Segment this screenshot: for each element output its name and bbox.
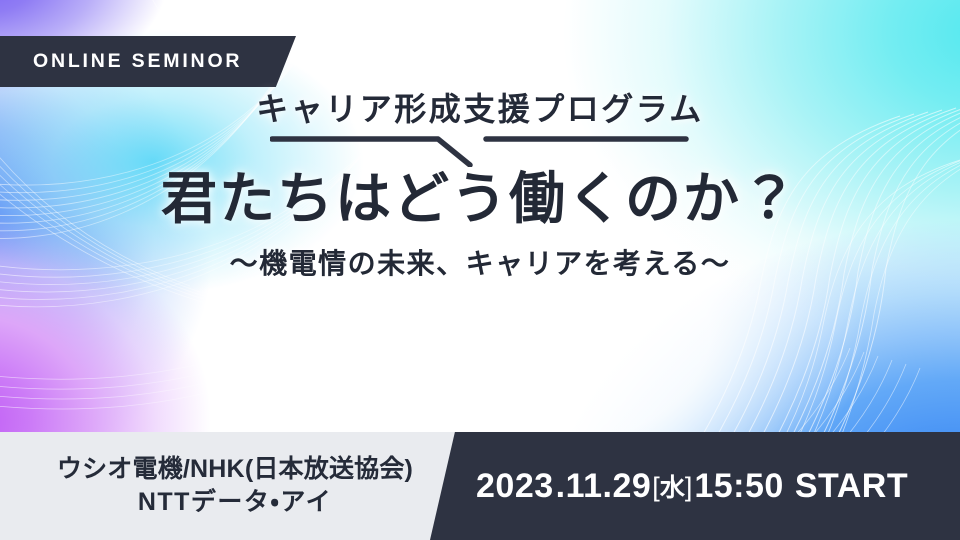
start-label: START [795,467,908,506]
organizers-line-2: NTTデータ・アイ [138,486,332,519]
date-year: 2023 [476,467,554,506]
date-panel: 2023 .11.29 [水] 15:50 START [430,432,960,540]
sub-title: ～機電情の未来、キャリアを考える～ [0,248,960,282]
title-divider [270,133,690,167]
seminar-poster: ONLINE SEMINOR キャリア形成支援プログラム 君たちはどう働くのか？… [0,0,960,540]
online-seminar-ribbon: ONLINE SEMINOR [0,36,296,87]
date-day-of-week: 水 [660,474,685,502]
date-start-time: 15:50 [694,467,783,506]
footer-bar: ウシオ電機/NHK(日本放送協会) NTTデータ・アイ 2023 .11.29 … [0,432,960,540]
date-time-text: 2023 .11.29 [水] 15:50 START [430,467,908,506]
organizers-line-1: ウシオ電機/NHK(日本放送協会) [57,453,413,486]
bracket-close: ] [685,472,693,502]
date-month-day: .11.29 [556,467,652,506]
program-label: キャリア形成支援プログラム [0,92,960,127]
date-day-of-week-group: [水] [652,468,692,504]
organizers-panel: ウシオ電機/NHK(日本放送協会) NTTデータ・アイ [0,432,470,540]
bracket-open: [ [652,472,660,502]
main-title: 君たちはどう働くのか？ [0,169,960,232]
ribbon-label: ONLINE SEMINOR [0,50,242,73]
headline-block: キャリア形成支援プログラム 君たちはどう働くのか？ ～機電情の未来、キャリアを考… [0,92,960,282]
